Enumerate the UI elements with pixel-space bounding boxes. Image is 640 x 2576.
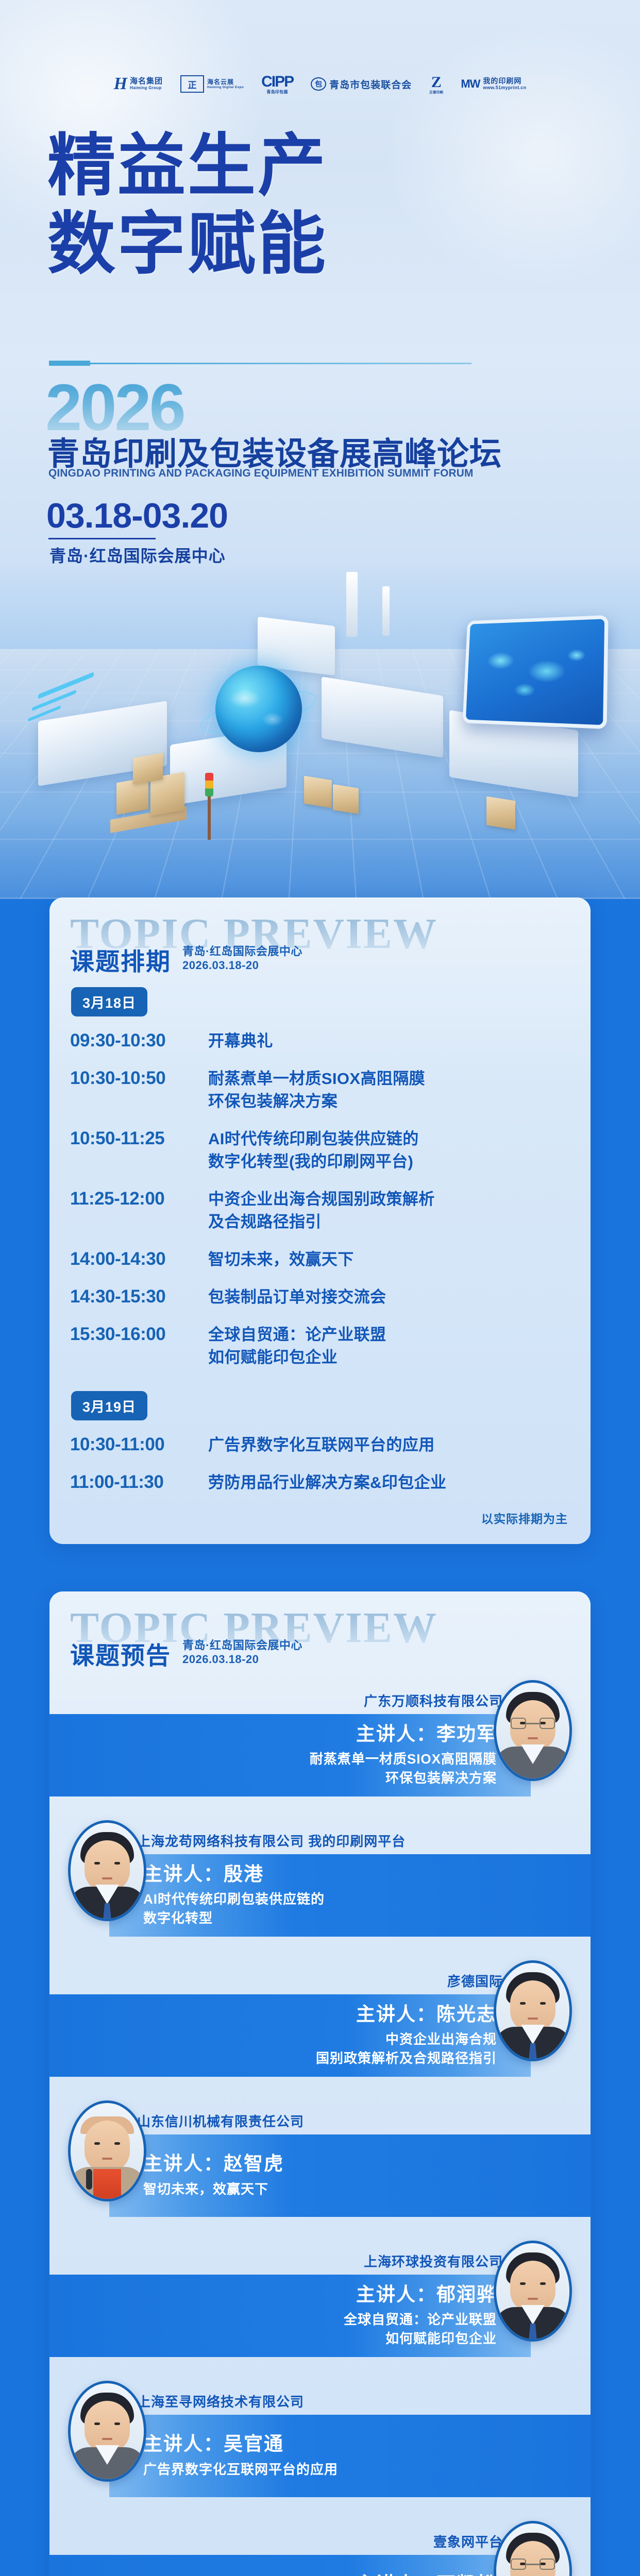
globe-icon bbox=[215, 666, 302, 752]
speaker-topic: 广告界数字化互联网平台的应用 bbox=[143, 2460, 338, 2479]
signal-pole bbox=[208, 796, 211, 840]
speaker-topic: 耐蒸煮单一材质SIOX高阻隔膜环保包装解决方案 bbox=[310, 1750, 497, 1788]
cardboard-box bbox=[486, 796, 515, 830]
cardboard-box bbox=[133, 753, 163, 785]
logo-my-print-net: MW 我的印刷网 www.51myprint.cn bbox=[461, 77, 526, 91]
schedule-time: 11:00-11:30 bbox=[70, 1471, 208, 1494]
illustration-tower bbox=[346, 572, 358, 637]
speaker-banner: 主讲人：赵智虎智切未来，效赢天下 bbox=[109, 2134, 591, 2217]
schedule-topic: 智切未来，效赢天下 bbox=[208, 1248, 354, 1271]
hero-section: H 海名集团 Haiming Group 正 海名云展 Haiming Digi… bbox=[0, 0, 640, 899]
myprint-mw-icon: MW bbox=[461, 77, 480, 91]
speaker-row: 山东信川机械有限责任公司主讲人：赵智虎智切未来，效赢天下 bbox=[49, 2097, 591, 2238]
divider-line bbox=[90, 363, 471, 364]
logo-label-cn: 青岛印包展 bbox=[266, 90, 288, 95]
speaker-avatar bbox=[68, 2100, 146, 2201]
cipp-wordmark-icon: CIPP bbox=[261, 73, 293, 90]
date-venue-rule bbox=[48, 538, 156, 539]
speaker-banner: 主讲人：陈光志中资企业出海合规国别政策解析及合规路径指引 bbox=[49, 1994, 531, 2077]
speaker-row: 上海龙苟网络科技有限公司 我的印刷网平台主讲人：殷港AI时代传统印刷包装供应链的… bbox=[49, 1817, 591, 1957]
schedule-time: 11:25-12:00 bbox=[70, 1188, 208, 1210]
schedule-meta-venue: 青岛·红岛国际会展中心 bbox=[182, 944, 302, 959]
logo-qingdao-packaging-association: 包 青岛市包装联合会 bbox=[311, 77, 412, 91]
digital-expo-box-icon: 正 bbox=[180, 75, 204, 93]
schedule-topic: 劳防用品行业解决方案&印包企业 bbox=[208, 1471, 446, 1494]
package-circle-icon: 包 bbox=[311, 77, 326, 91]
schedule-topic: 中资企业出海合规国别政策解析及合规路径指引 bbox=[208, 1188, 435, 1233]
cardboard-box bbox=[304, 776, 332, 808]
schedule-time: 10:50-11:25 bbox=[70, 1128, 208, 1150]
speaker-topic: 中资企业出海合规国别政策解析及合规路径指引 bbox=[316, 2030, 497, 2068]
speaker-company: 山东信川机械有限责任公司 bbox=[137, 2109, 304, 2132]
schedule-topic: 广告界数字化互联网平台的应用 bbox=[208, 1434, 435, 1456]
speaker-name: 主讲人：郁润骅 bbox=[356, 2283, 497, 2306]
speaker-company: 上海龙苟网络科技有限公司 我的印刷网平台 bbox=[137, 1828, 406, 1852]
schedule-row: 11:00-11:30劳防用品行业解决方案&印包企业 bbox=[70, 1471, 570, 1494]
logo-haiming-digital-expo: 正 海名云展 Haiming Digital Expo bbox=[180, 75, 244, 93]
hero-glow-right bbox=[382, 21, 640, 289]
speaker-banner: 主讲人：郁润骅全球自贸通：论产业联盟如何赋能印包企业 bbox=[49, 2275, 531, 2357]
speaker-avatar bbox=[494, 2521, 572, 2576]
cardboard-box bbox=[333, 784, 359, 814]
schedule-card: TOPIC PREVIEW 课题排期 青岛·红岛国际会展中心 2026.03.1… bbox=[49, 897, 591, 1544]
speaker-name: 主讲人：殷港 bbox=[143, 1863, 264, 1886]
partner-logo-row: H 海名集团 Haiming Group 正 海名云展 Haiming Digi… bbox=[0, 68, 640, 100]
logo-url: www.51myprint.cn bbox=[483, 86, 526, 91]
schedule-time: 15:30-16:00 bbox=[70, 1324, 208, 1346]
schedule-topic: AI时代传统印刷包装供应链的数字化转型(我的印刷网平台) bbox=[208, 1128, 419, 1173]
schedule-row: 10:30-10:50耐蒸煮单一材质SIOX高阻隔膜环保包装解决方案 bbox=[70, 1067, 570, 1113]
schedule-topic: 耐蒸煮单一材质SIOX高阻隔膜环保包装解决方案 bbox=[208, 1067, 425, 1113]
speaker-company: 壹象网平台 bbox=[433, 2529, 503, 2553]
speakers-card: TOPIC PREVIEW 课题预告 青岛·红岛国际会展中心 2026.03.1… bbox=[49, 1591, 591, 2576]
schedule-meta-date: 2026.03.18-20 bbox=[182, 958, 302, 973]
schedule-row: 14:00-14:30智切未来，效赢天下 bbox=[70, 1248, 570, 1271]
speaker-company: 广东万顺科技有限公司 bbox=[364, 1688, 503, 1712]
logo-haiming-group: H 海名集团 Haiming Group bbox=[114, 75, 163, 93]
speaker-avatar bbox=[68, 1820, 146, 1921]
schedule-row: 10:50-11:25AI时代传统印刷包装供应链的数字化转型(我的印刷网平台) bbox=[70, 1128, 570, 1173]
speaker-banner: 主讲人：殷港AI时代传统印刷包装供应链的数字化转型 bbox=[109, 1854, 591, 1937]
speaker-name: 主讲人：李功军 bbox=[356, 1723, 497, 1745]
logo-label-cn: 青岛市包装联合会 bbox=[329, 77, 412, 91]
cardboard-box bbox=[116, 777, 148, 815]
schedule-row: 15:30-16:00全球自贸通：论产业联盟如何赋能印包企业 bbox=[70, 1324, 570, 1369]
logo-label-en: Haiming Digital Expo bbox=[207, 86, 244, 89]
schedule-row: 09:30-10:30开幕典礼 bbox=[70, 1030, 570, 1053]
schedule-row: 10:30-11:00广告界数字化互联网平台的应用 bbox=[70, 1434, 570, 1456]
logo-label-cn: 海名集团 bbox=[130, 77, 163, 86]
speaker-banner: 主讲人：李功军耐蒸煮单一材质SIOX高阻隔膜环保包装解决方案 bbox=[49, 1714, 531, 1797]
schedule-card-header: TOPIC PREVIEW 课题排期 青岛·红岛国际会展中心 2026.03.1… bbox=[49, 897, 591, 978]
schedule-body: 3月18日09:30-10:30开幕典礼10:30-10:50耐蒸煮单一材质SI… bbox=[49, 978, 591, 1544]
title-divider bbox=[49, 361, 471, 366]
schedule-time: 09:30-10:30 bbox=[70, 1030, 208, 1052]
logo-label-cn: 海名云展 bbox=[207, 79, 244, 86]
speaker-banner: 主讲人：石凯松劳防用品行业解决方案&印包企业 bbox=[49, 2555, 531, 2576]
schedule-title: 课题排期 bbox=[70, 950, 171, 974]
poster-main-title: 精益生产 数字赋能 bbox=[47, 127, 328, 283]
speaker-row: 壹象网平台主讲人：石凯松劳防用品行业解决方案&印包企业 bbox=[49, 2518, 591, 2576]
speaker-topic: 全球自贸通：论产业联盟如何赋能印包企业 bbox=[344, 2310, 497, 2348]
speaker-row: 上海至寻网络技术有限公司主讲人：吴官通广告界数字化互联网平台的应用 bbox=[49, 2378, 591, 2518]
speaker-row: 广东万顺科技有限公司主讲人：李功军耐蒸煮单一材质SIOX高阻隔膜环保包装解决方案 bbox=[49, 1677, 591, 1817]
schedule-time: 14:00-14:30 bbox=[70, 1248, 208, 1270]
speakers-card-header: TOPIC PREVIEW 课题预告 青岛·红岛国际会展中心 2026.03.1… bbox=[49, 1591, 591, 1672]
world-map-screen bbox=[463, 615, 609, 729]
speaker-row: 上海环球投资有限公司主讲人：郁润骅全球自贸通：论产业联盟如何赋能印包企业 bbox=[49, 2238, 591, 2378]
speaker-avatar bbox=[494, 2241, 572, 2342]
speaker-avatar bbox=[494, 1960, 572, 2061]
speaker-topic: AI时代传统印刷包装供应链的数字化转型 bbox=[143, 1890, 325, 1928]
speaker-company: 彦德国际 bbox=[447, 1969, 503, 1992]
haiming-h-icon: H bbox=[114, 75, 127, 93]
schedule-footnote: 以实际排期为主 bbox=[70, 1509, 570, 1527]
speaker-company: 上海至寻网络技术有限公司 bbox=[137, 2389, 304, 2413]
event-date-range: 03.18-03.20 bbox=[46, 496, 228, 536]
speakers-title: 课题预告 bbox=[70, 1643, 171, 1668]
logo-zhengde-printing: Z 正德印刷 bbox=[429, 74, 443, 94]
divider-cap bbox=[49, 361, 90, 366]
speakers-meta-venue: 青岛·红岛国际会展中心 bbox=[182, 1638, 302, 1653]
main-title-line-2: 数字赋能 bbox=[47, 205, 328, 283]
speaker-topic: 智切未来，效赢天下 bbox=[143, 2180, 268, 2199]
signal-light-icon bbox=[205, 773, 213, 796]
schedule-time: 10:30-11:00 bbox=[70, 1434, 208, 1456]
schedule-topic: 全球自贸通：论产业联盟如何赋能印包企业 bbox=[208, 1324, 386, 1369]
speaker-banner: 主讲人：吴官通广告界数字化互联网平台的应用 bbox=[109, 2415, 591, 2497]
speaker-name: 主讲人：陈光志 bbox=[356, 2003, 497, 2026]
speaker-name: 主讲人：吴官通 bbox=[143, 2433, 284, 2455]
speaker-avatar bbox=[68, 2381, 146, 2482]
speaker-avatar bbox=[494, 1680, 572, 1781]
zhengde-z-icon: Z bbox=[431, 74, 442, 91]
logo-label-cn: 我的印刷网 bbox=[483, 77, 526, 85]
schedule-time: 14:30-15:30 bbox=[70, 1286, 208, 1308]
schedule-topic: 包装制品订单对接交流会 bbox=[208, 1286, 386, 1309]
speaker-row: 彦德国际主讲人：陈光志中资企业出海合规国别政策解析及合规路径指引 bbox=[49, 1957, 591, 2097]
speakers-meta-date: 2026.03.18-20 bbox=[182, 1652, 302, 1667]
schedule-row: 14:30-15:30包装制品订单对接交流会 bbox=[70, 1286, 570, 1309]
day-chip: 3月19日 bbox=[71, 1391, 147, 1420]
speaker-name: 主讲人：石凯松 bbox=[356, 2573, 497, 2576]
factory-illustration bbox=[0, 556, 640, 899]
speakers-list: 广东万顺科技有限公司主讲人：李功军耐蒸煮单一材质SIOX高阻隔膜环保包装解决方案… bbox=[49, 1672, 591, 2576]
main-title-line-1: 精益生产 bbox=[47, 127, 328, 205]
speaker-name: 主讲人：赵智虎 bbox=[143, 2153, 284, 2175]
forum-subtitle-en: QINGDAO PRINTING AND PACKAGING EQUIPMENT… bbox=[48, 467, 474, 480]
schedule-topic: 开幕典礼 bbox=[208, 1030, 273, 1053]
schedule-row: 11:25-12:00中资企业出海合规国别政策解析及合规路径指引 bbox=[70, 1188, 570, 1233]
schedule-time: 10:30-10:50 bbox=[70, 1067, 208, 1090]
speaker-company: 上海环球投资有限公司 bbox=[364, 2249, 503, 2273]
day-chip: 3月18日 bbox=[71, 987, 147, 1016]
logo-label-cn: 正德印刷 bbox=[429, 91, 443, 94]
logo-cipp: CIPP 青岛印包展 bbox=[261, 73, 293, 95]
illustration-tower bbox=[382, 586, 390, 636]
logo-label-en: Haiming Group bbox=[130, 86, 163, 91]
